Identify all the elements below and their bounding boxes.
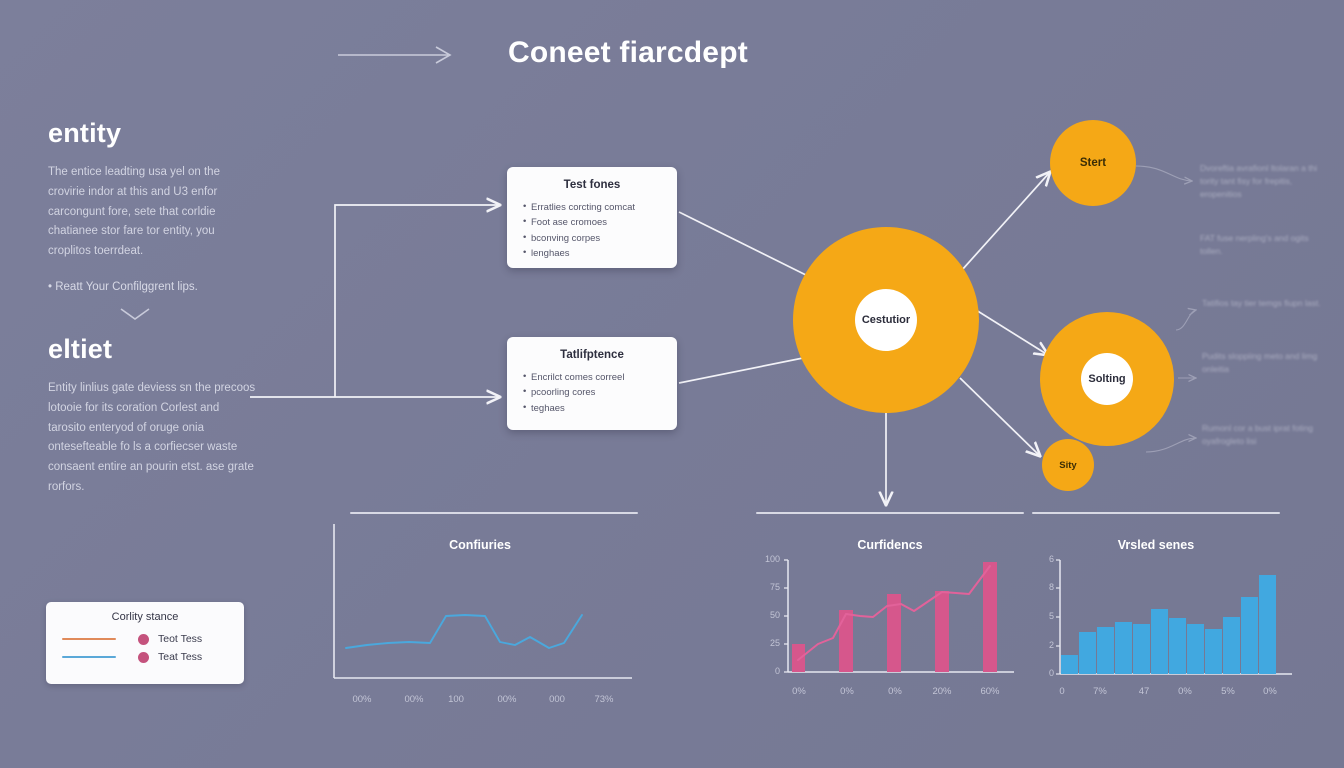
node-sity[interactable]: Sity	[1042, 439, 1094, 491]
page-title: Coneet fiarcdept	[508, 36, 748, 70]
chart-panel-line: Confiuries 00% 00% 100 00% 000 73%	[322, 512, 638, 722]
flow-card-tolerance[interactable]: Tatlifptence Encrilct comes correel pcoo…	[507, 337, 677, 430]
xtick-label: 0%	[1171, 686, 1199, 697]
annotation-note: Pudits sloppiing meto and limg onleitia	[1202, 350, 1334, 376]
legend-line-swatch	[62, 638, 116, 640]
xtick-label: 00%	[394, 694, 434, 705]
node-hub-label: Cestutior	[862, 314, 910, 326]
node-hub[interactable]: Cestutior	[793, 227, 979, 413]
legend-label: Teat Tess	[158, 651, 202, 663]
bar-chart-series-svg[interactable]	[1032, 512, 1312, 692]
sidebar-heading-entity: entity	[48, 118, 258, 149]
xtick-label: 5%	[1214, 686, 1242, 697]
annotation-note: FAT fuse nerpling's and ogits tollen.	[1200, 232, 1332, 258]
legend-dot-swatch	[138, 634, 149, 645]
line-chart-svg[interactable]	[322, 512, 638, 692]
ytick-label: 75	[754, 582, 780, 592]
xtick-label: 00%	[342, 694, 382, 705]
card-title: Tatlifptence	[523, 349, 661, 361]
xtick-label: 0%	[779, 686, 819, 697]
chart-panel-series: Vrsled senes 6 8 5 2 0 0 7%	[1032, 512, 1312, 722]
xtick-label: 00%	[487, 694, 527, 705]
legend-title: Corlity stance	[58, 611, 232, 623]
sidebar-section-eltiet: eltiet Entity linlius gate deviess sn th…	[48, 334, 258, 498]
annotation-note: Dvoreftia avrafionl ltolaran a thi torit…	[1200, 162, 1332, 202]
legend-line-swatch	[62, 656, 116, 658]
legend-row[interactable]: Teat Tess	[58, 648, 232, 666]
card-list-item: Erratlies corcting comcat	[523, 200, 661, 215]
ytick-label: 50	[754, 610, 780, 620]
legend-dot-swatch	[138, 652, 149, 663]
xtick-label: 100	[436, 694, 476, 705]
xtick-label: 0%	[875, 686, 915, 697]
card-title: Test fones	[523, 179, 661, 191]
legend-box: Corlity stance Teot Tess Teat Tess	[46, 602, 244, 684]
sidebar-bullet-entity: • Reatt Your Confilggrent lips.	[48, 278, 258, 298]
chart-panel-confidence: Curfidencs 100 75 50 25 0 0% 0% 0% 20% 6…	[756, 512, 1024, 722]
card-list-item: pcoorling cores	[523, 385, 661, 400]
chevron-down-icon[interactable]	[118, 306, 152, 322]
card-list-item: lenghaes	[523, 246, 661, 261]
sidebar-body-entity: The entice leadting usa yel on the crovi…	[48, 163, 258, 262]
legend-label: Teot Tess	[158, 633, 202, 645]
sidebar-body-eltiet: Entity linlius gate deviess sn the preco…	[48, 379, 258, 498]
xtick-label: 0	[1050, 686, 1074, 697]
ytick-label: 0	[1034, 668, 1054, 678]
arrow-right-icon	[336, 44, 460, 66]
ytick-label: 6	[1034, 554, 1054, 564]
card-list-item: bconving corpes	[523, 231, 661, 246]
node-start[interactable]: Stert	[1050, 120, 1136, 206]
annotation-note: Tatifios tay tier temgs fiupn last.	[1202, 297, 1334, 310]
ytick-label: 25	[754, 638, 780, 648]
xtick-label: 20%	[922, 686, 962, 697]
node-setting[interactable]: Solting	[1040, 312, 1174, 446]
ytick-label: 2	[1034, 640, 1054, 650]
card-list-item: teghaes	[523, 401, 661, 416]
node-sity-label: Sity	[1059, 460, 1076, 471]
xtick-label: 73%	[584, 694, 624, 705]
infographic-canvas: Coneet fiarcdept entity The entice leadt…	[0, 0, 1344, 768]
card-list-item: Encrilct comes correel	[523, 370, 661, 385]
flow-card-test[interactable]: Test fones Erratlies corcting comcat Foo…	[507, 167, 677, 268]
legend-row[interactable]: Teot Tess	[58, 630, 232, 648]
xtick-label: 0%	[827, 686, 867, 697]
sidebar-section-entity: entity The entice leadting usa yel on th…	[48, 118, 258, 298]
node-setting-label: Solting	[1088, 373, 1125, 385]
ytick-label: 5	[1034, 611, 1054, 621]
xtick-label: 0%	[1256, 686, 1284, 697]
card-list-item: Foot ase cromoes	[523, 215, 661, 230]
xtick-label: 60%	[970, 686, 1010, 697]
node-start-label: Stert	[1080, 157, 1106, 169]
xtick-label: 7%	[1086, 686, 1114, 697]
bar-chart-confidence-svg[interactable]	[756, 512, 1024, 692]
node-hub-core: Cestutior	[855, 289, 917, 351]
ytick-label: 8	[1034, 582, 1054, 592]
sidebar-heading-eltiet: eltiet	[48, 334, 258, 365]
xtick-label: 47	[1130, 686, 1158, 697]
ytick-label: 0	[754, 666, 780, 676]
ytick-label: 100	[754, 554, 780, 564]
node-setting-core: Solting	[1081, 353, 1133, 405]
xtick-label: 000	[537, 694, 577, 705]
annotation-note: Rumonl cor a bust iprat foting oyafrogle…	[1202, 422, 1334, 448]
